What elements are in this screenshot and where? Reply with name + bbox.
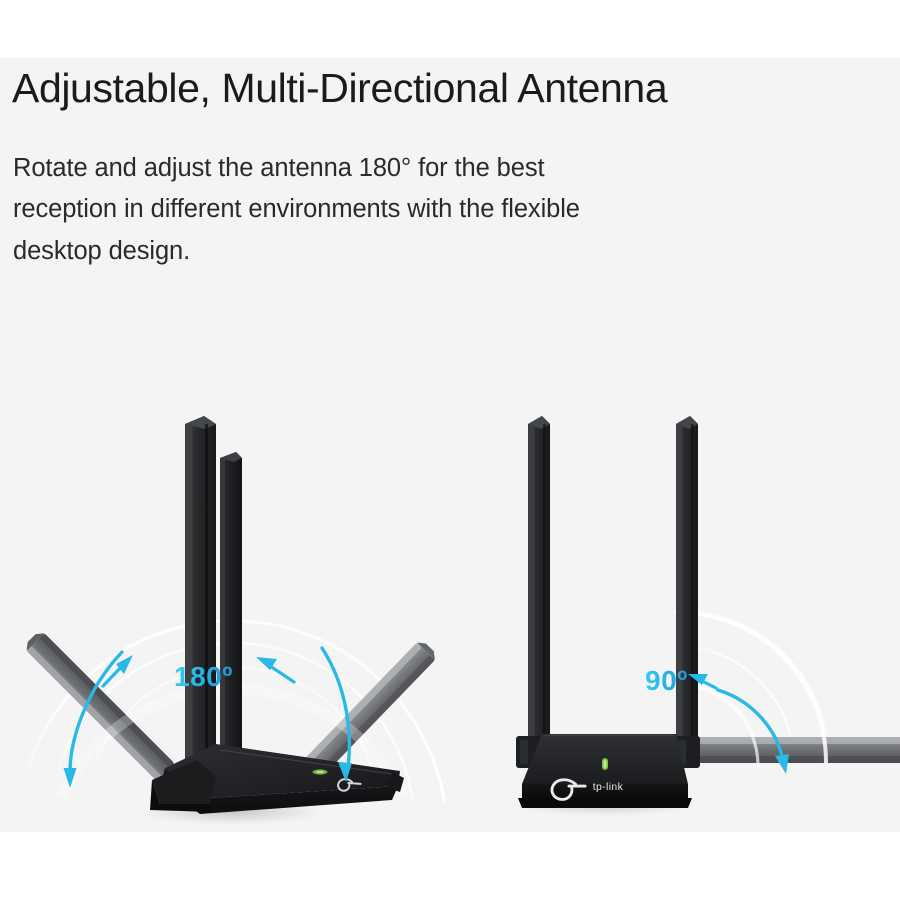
description-line-3: desktop design. [13, 231, 753, 272]
illustration-stage: tp-link [0, 400, 900, 840]
description-line-2: reception in different environments with… [13, 189, 753, 230]
right-device-illustration: tp-link [450, 400, 900, 840]
right-device-graphics: tp-link [450, 400, 900, 840]
page-title: Adjustable, Multi-Directional Antenna [12, 66, 872, 112]
product-feature-image: Adjustable, Multi-Directional Antenna Ro… [0, 0, 900, 900]
angle-label-180: 180º [174, 663, 233, 691]
angle-label-90: 90º [645, 667, 688, 695]
description-line-1: Rotate and adjust the antenna 180° for t… [13, 148, 753, 189]
description-text: Rotate and adjust the antenna 180° for t… [13, 148, 753, 272]
left-device-illustration [0, 400, 450, 840]
left-device-graphics [0, 400, 450, 840]
svg-text:tp-link: tp-link [593, 782, 624, 793]
